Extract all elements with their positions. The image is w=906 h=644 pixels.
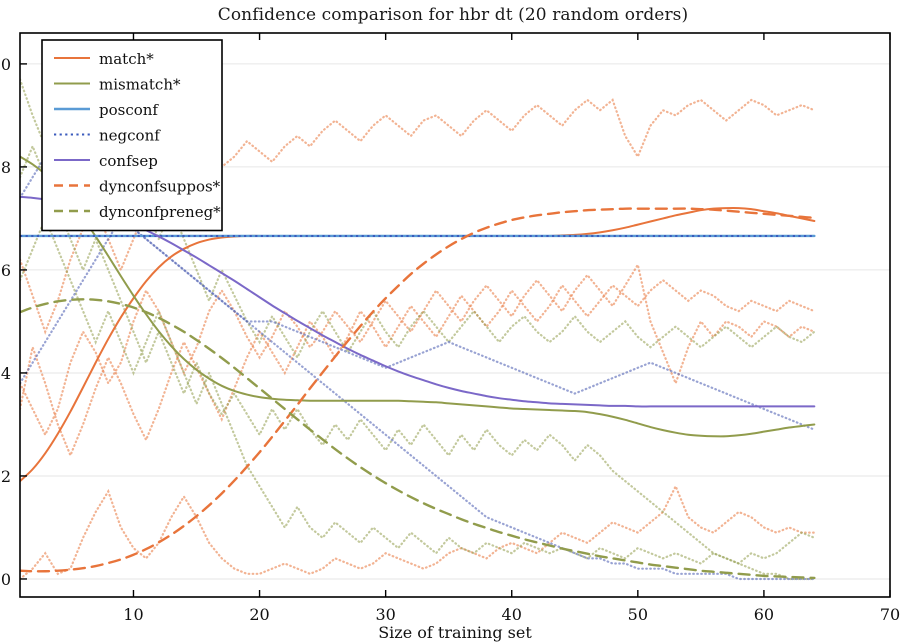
xtick-label-3: 40 (502, 605, 522, 624)
ytick-label-4: 0.8 (0, 158, 11, 177)
x-axis-label: Size of training set (378, 623, 532, 642)
legend-label-dynconfpreneg*[interactable]: dynconfpreneg* (99, 203, 221, 221)
chart-root: Confidence comparison for hbr dt (20 ran… (0, 0, 906, 644)
ytick-label-5: 1.0 (0, 55, 11, 74)
ytick-label-1: 0.2 (0, 467, 11, 486)
xtick-label-1: 20 (249, 605, 269, 624)
chart-canvas: 0.00.20.40.60.81.010203040506070Size of … (0, 0, 906, 644)
legend-label-posconf[interactable]: posconf (99, 101, 159, 119)
xtick-label-6: 70 (880, 605, 900, 624)
xtick-label-2: 30 (375, 605, 395, 624)
legend-label-match*[interactable]: match* (99, 50, 154, 68)
xtick-label-5: 60 (754, 605, 774, 624)
legend-label-dynconfsuppos*[interactable]: dynconfsuppos* (99, 178, 221, 196)
ytick-label-0: 0.0 (0, 570, 11, 589)
legend-label-negconf[interactable]: negconf (99, 127, 161, 145)
ytick-label-3: 0.6 (0, 261, 11, 280)
xtick-label-4: 50 (628, 605, 648, 624)
xtick-label-0: 10 (123, 605, 143, 624)
ytick-label-2: 0.4 (0, 364, 11, 383)
legend-label-confsep[interactable]: confsep (99, 152, 158, 170)
legend: match*mismatch*posconfnegconfconfsepdync… (42, 40, 222, 231)
legend-label-mismatch*[interactable]: mismatch* (99, 76, 181, 94)
